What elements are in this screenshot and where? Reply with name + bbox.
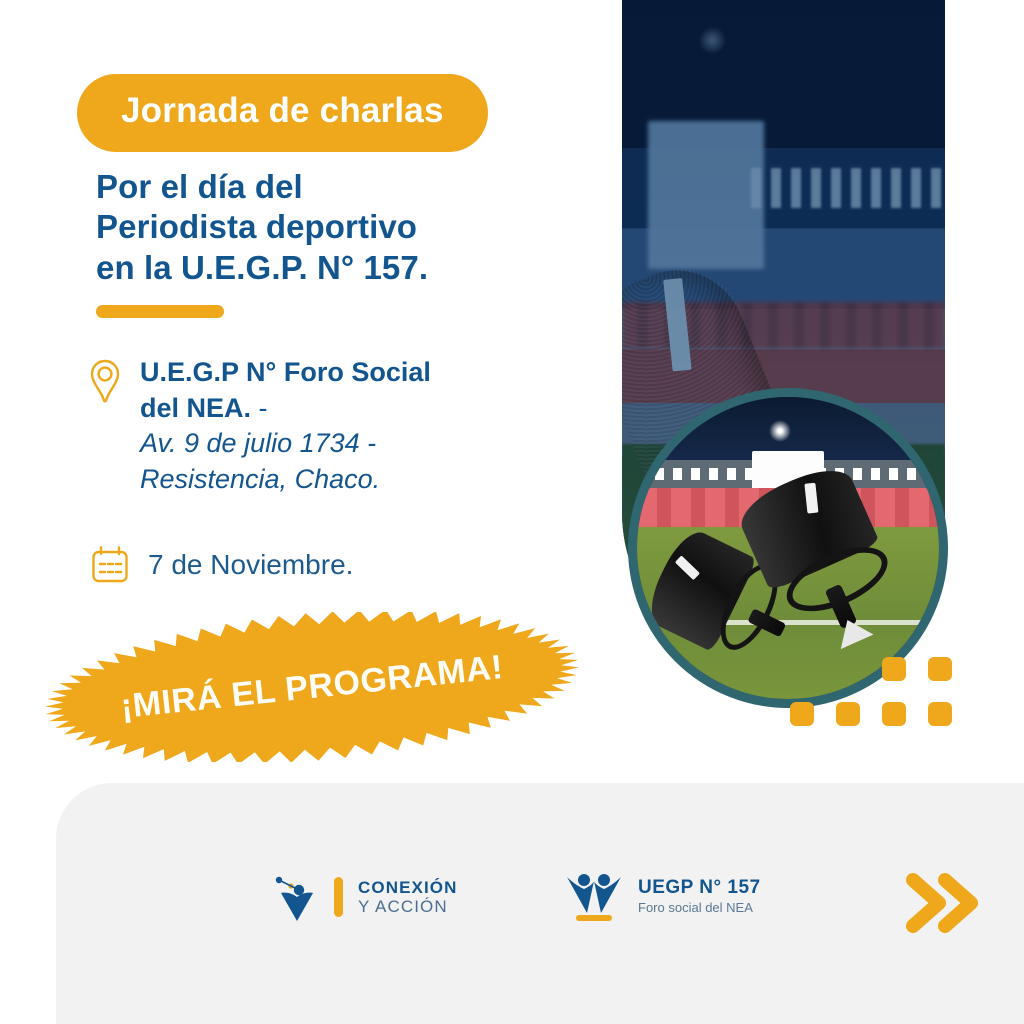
- map-pin-icon: [88, 359, 122, 403]
- location-row: U.E.G.P N° Foro Social del NEA. - Av. 9 …: [88, 355, 431, 498]
- logo-uegp-157: UEGP N° 157 Foro social del NEA: [563, 869, 761, 923]
- headline-line-3: en la U.E.G.P. N° 157.: [96, 248, 428, 288]
- location-text: U.E.G.P N° Foro Social del NEA. - Av. 9 …: [140, 355, 431, 498]
- venue-name-line-2: del NEA.: [140, 393, 251, 423]
- logo-primary-line-2: Y ACCIÓN: [358, 897, 457, 916]
- decorative-dot-grid: [790, 657, 952, 726]
- light-flare-icon: [767, 418, 793, 444]
- address-line-2: Resistencia, Chaco.: [140, 462, 431, 498]
- date-row: 7 de Noviembre.: [90, 545, 353, 585]
- logo-accent-bar: [334, 877, 343, 917]
- double-chevron-right-icon[interactable]: [905, 872, 985, 934]
- event-type-badge: Jornada de charlas: [77, 74, 488, 152]
- logo-conexion-y-accion: CONEXIÓN Y ACCIÓN: [271, 871, 457, 923]
- calendar-icon: [90, 545, 130, 585]
- logo-secondary-line-2: Foro social del NEA: [638, 900, 761, 915]
- footer-panel: [56, 783, 1024, 1024]
- cta-starburst[interactable]: ¡MIRÁ EL PROGRAMA!: [42, 612, 582, 762]
- date-text: 7 de Noviembre.: [148, 549, 353, 581]
- venue-separator: -: [251, 393, 268, 423]
- person-network-icon: [271, 871, 323, 923]
- flyer-canvas: Jornada de charlas Por el día del Period…: [0, 0, 1024, 1024]
- logo-primary-line-1: CONEXIÓN: [358, 878, 457, 897]
- logo-secondary-line-1: UEGP N° 157: [638, 877, 761, 899]
- headline-line-2: Periodista deportivo: [96, 207, 428, 247]
- venue-name-line-1: U.E.G.P N° Foro Social: [140, 357, 431, 387]
- page-title: Por el día del Periodista deportivo en l…: [96, 167, 428, 288]
- headline-line-1: Por el día del: [96, 167, 428, 207]
- headline-underline: [96, 305, 224, 318]
- address-line-1: Av. 9 de julio 1734 -: [140, 426, 431, 462]
- two-people-icon: [563, 869, 625, 923]
